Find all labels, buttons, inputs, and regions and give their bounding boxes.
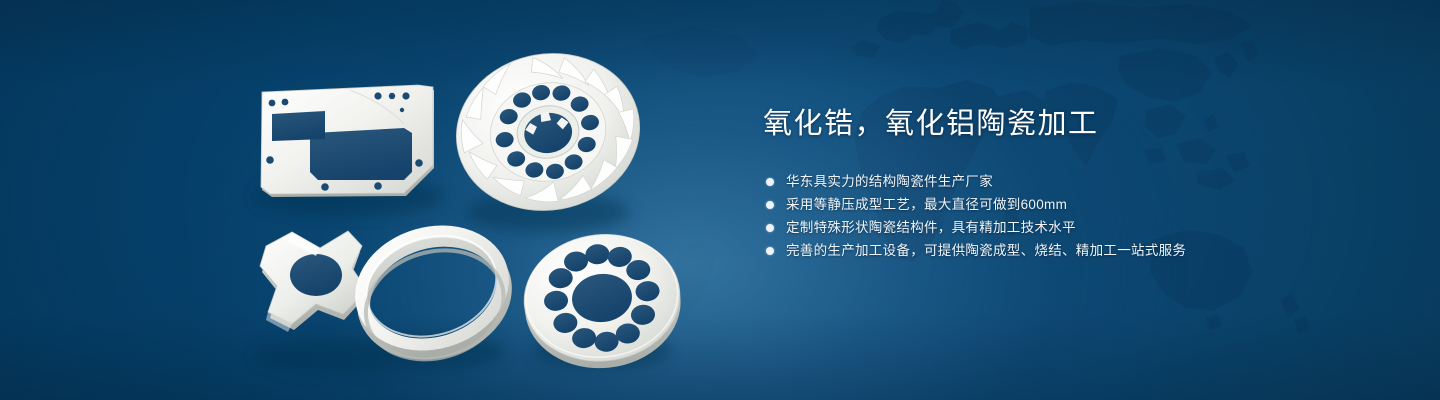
- list-item-label: 完善的生产加工设备，可提供陶瓷成型、烧结、精加工一站式服务: [786, 239, 1186, 262]
- page-title: 氧化锆，氧化铝陶瓷加工: [763, 104, 1303, 144]
- list-item: 定制特殊形状陶瓷结构件，具有精加工技术水平: [763, 216, 1303, 239]
- list-item: 完善的生产加工设备，可提供陶瓷成型、烧结、精加工一站式服务: [763, 239, 1303, 262]
- banner-copy: 氧化锆，氧化铝陶瓷加工 华东具实力的结构陶瓷件生产厂家 采用等静压成型工艺，最大…: [763, 104, 1303, 262]
- bullet-dot-icon: [766, 178, 774, 186]
- ceramic-impeller-disc: [444, 39, 652, 225]
- bullet-dot-icon: [766, 201, 774, 209]
- cross-shaped-ceramic-part: [260, 231, 367, 332]
- list-item-label: 华东具实力的结构陶瓷件生产厂家: [786, 170, 993, 193]
- ceramic-processing-banner: 氧化锆，氧化铝陶瓷加工 华东具实力的结构陶瓷件生产厂家 采用等静压成型工艺，最大…: [0, 0, 1440, 400]
- list-item: 华东具实力的结构陶瓷件生产厂家: [763, 170, 1303, 193]
- list-item-label: 定制特殊形状陶瓷结构件，具有精加工技术水平: [786, 216, 1076, 239]
- feature-list: 华东具实力的结构陶瓷件生产厂家 采用等静压成型工艺，最大直径可做到600mm 定…: [763, 170, 1303, 262]
- rectangular-ceramic-plate: [261, 85, 434, 197]
- bullet-dot-icon: [766, 247, 774, 255]
- bullet-dot-icon: [766, 224, 774, 232]
- list-item: 采用等静压成型工艺，最大直径可做到600mm: [763, 193, 1303, 216]
- list-item-label: 采用等静压成型工艺，最大直径可做到600mm: [786, 193, 1067, 216]
- ceramic-products-image: [0, 0, 760, 400]
